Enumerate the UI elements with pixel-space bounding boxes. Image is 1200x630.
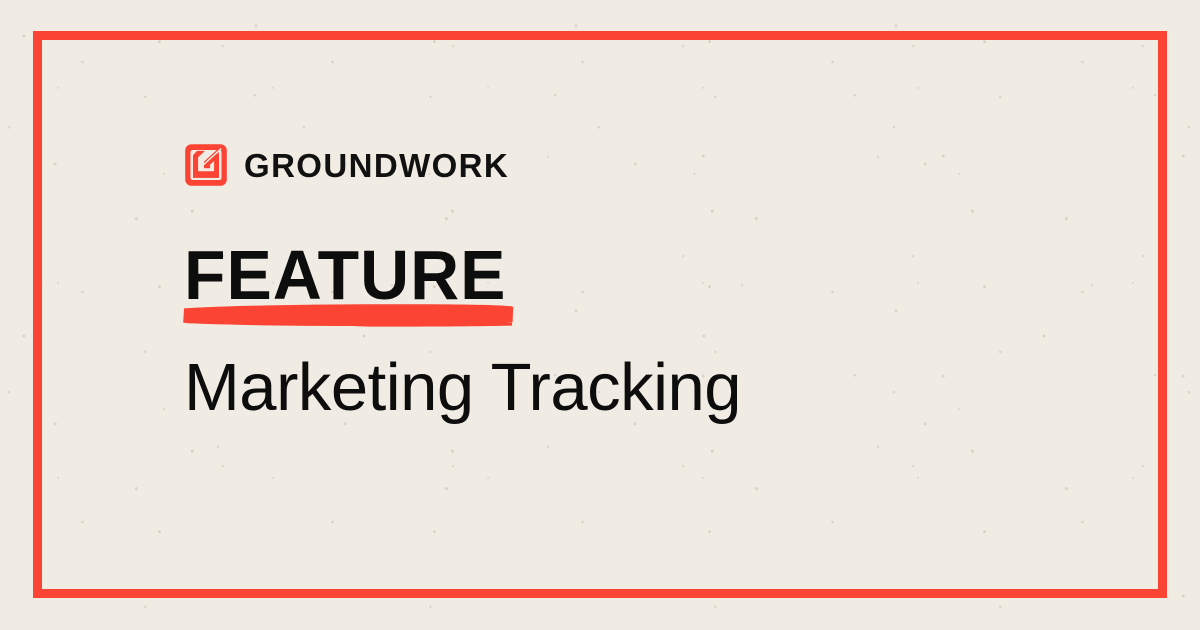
content-stack: GROUNDWORK FEATURE Marketing Tracking [184,140,1084,424]
groundwork-logo-icon [184,143,228,187]
brand-name: GROUNDWORK [244,149,509,182]
eyebrow-label: FEATURE [184,240,506,310]
feature-announcement-card: GROUNDWORK FEATURE Marketing Tracking [0,0,1200,630]
page-title: Marketing Tracking [184,352,1084,424]
brand-lockup: GROUNDWORK [184,140,1084,190]
eyebrow-block: FEATURE [184,240,516,310]
